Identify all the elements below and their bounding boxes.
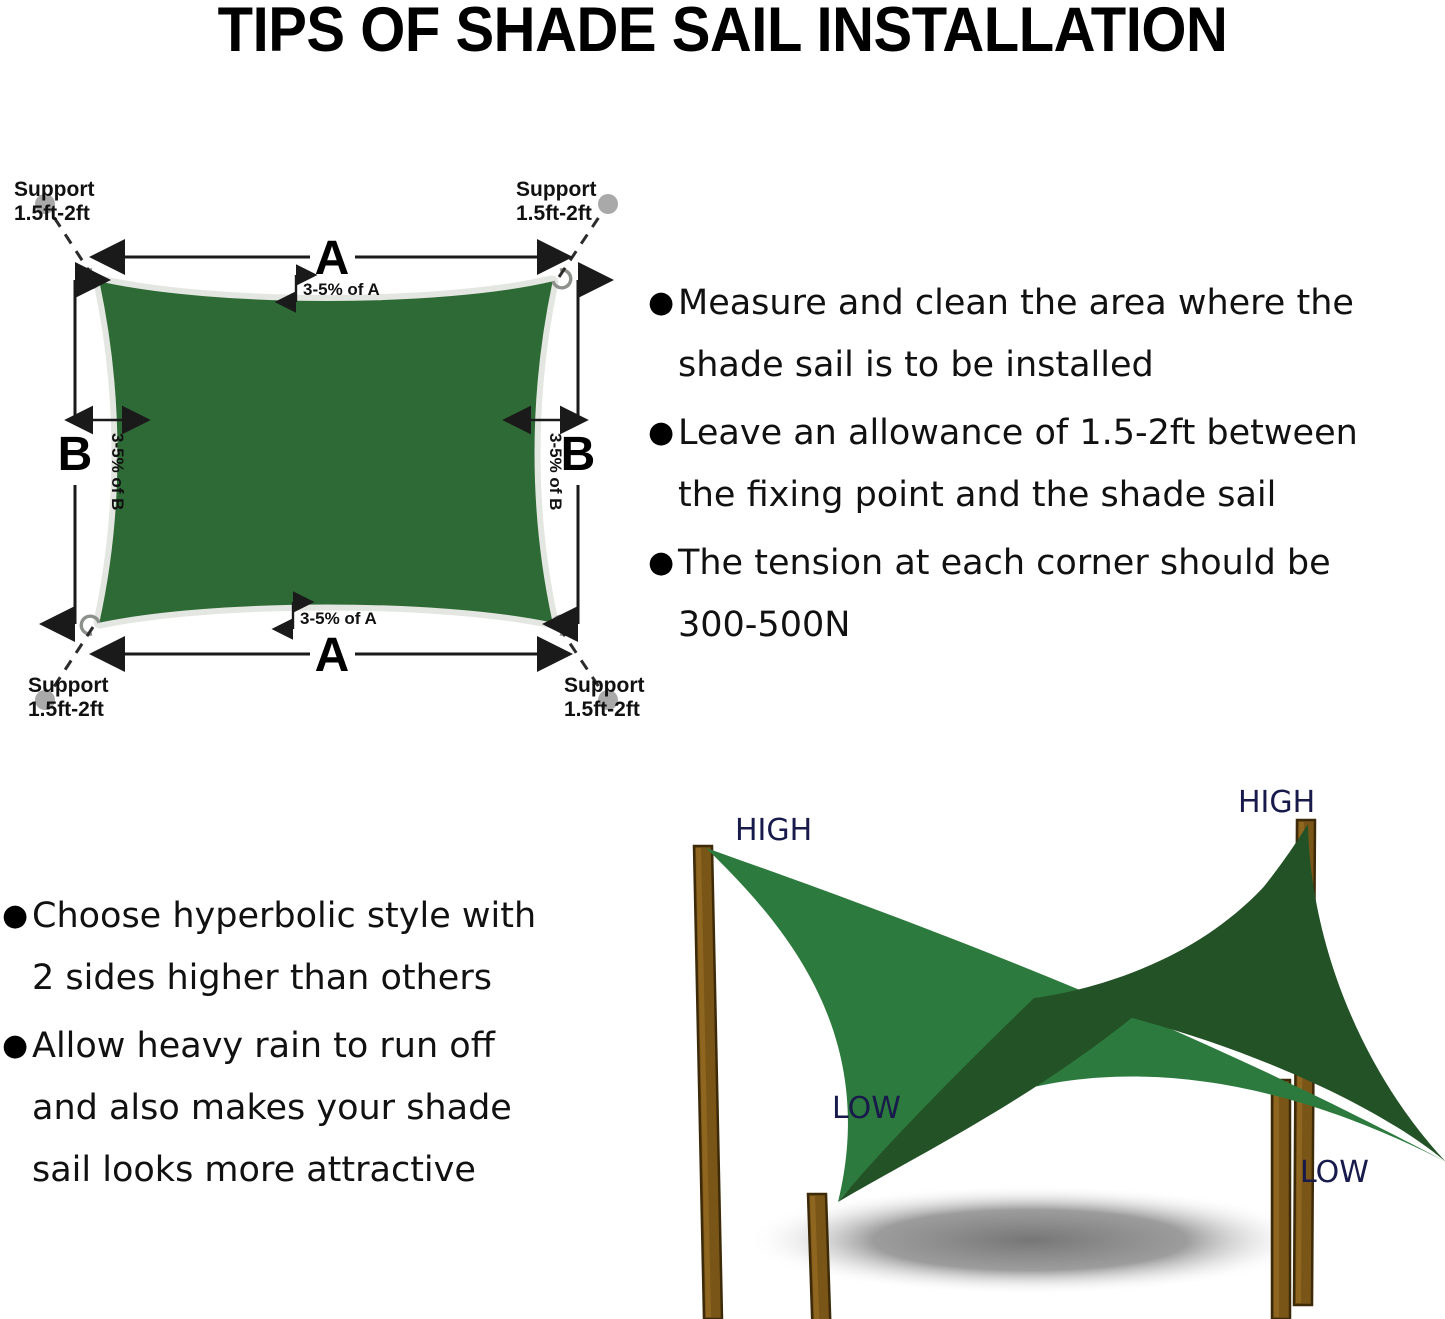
bullet-icon: ●	[2, 885, 32, 947]
support-label-line2: 1.5ft-2ft	[14, 202, 90, 225]
tip-line: Choose hyperbolic style with	[32, 885, 622, 947]
dimension-bottom-a: A	[125, 629, 537, 682]
tip-text: Measure and clean the area where the sha…	[678, 272, 1445, 396]
curvature-label-right: 3-5% of B	[546, 433, 565, 510]
support-label-line1: Support	[516, 178, 596, 201]
label-low-right: LOW	[1300, 1155, 1369, 1190]
tip-text: Allow heavy rain to run off and also mak…	[32, 1015, 622, 1201]
post-high-left	[694, 846, 722, 1319]
support-label-line1: Support	[564, 674, 644, 697]
tip-line: shade sail is to be installed	[678, 334, 1445, 396]
tips-list-right: ● Measure and clean the area where the s…	[648, 272, 1445, 662]
tip-line: Allow heavy rain to run off	[32, 1015, 622, 1077]
tip-text: Leave an allowance of 1.5-2ft between th…	[678, 402, 1445, 526]
tip-line: The tension at each corner should be	[678, 532, 1445, 594]
label-high-left: HIGH	[735, 813, 812, 848]
support-label-bottom-left: Support 1.5ft-2ft	[28, 674, 108, 721]
sail-fabric	[100, 282, 552, 622]
ground-shadow	[745, 1185, 1315, 1295]
tip-line: sail looks more attractive	[32, 1139, 622, 1201]
dimension-label-a-top: A	[315, 232, 350, 285]
tips-list-left: ● Choose hyperbolic style with 2 sides h…	[2, 885, 622, 1207]
bullet-icon: ●	[2, 1015, 32, 1077]
support-label-bottom-right: Support 1.5ft-2ft	[564, 674, 644, 721]
list-item: ● Leave an allowance of 1.5-2ft between …	[648, 402, 1445, 526]
curvature-label-left: 3-5% of B	[108, 433, 127, 510]
support-dot-icon	[598, 194, 618, 214]
support-label-line1: Support	[14, 178, 94, 201]
page-title: TIPS OF SHADE SAIL INSTALLATION	[58, 0, 1387, 66]
bullet-icon: ●	[648, 402, 678, 464]
tip-line: Measure and clean the area where the	[678, 272, 1445, 334]
tip-line: Leave an allowance of 1.5-2ft between	[678, 402, 1445, 464]
post-low-right	[1272, 1080, 1290, 1319]
bullet-icon: ●	[648, 532, 678, 594]
curvature-top: 3-5% of A	[296, 275, 380, 302]
support-label-line2: 1.5ft-2ft	[516, 202, 592, 225]
list-item: ● Choose hyperbolic style with 2 sides h…	[2, 885, 622, 1009]
tip-line: the fixing point and the shade sail	[678, 464, 1445, 526]
curvature-label-bottom: 3-5% of A	[300, 609, 377, 628]
label-low-left: LOW	[832, 1091, 901, 1126]
tip-text: Choose hyperbolic style with 2 sides hig…	[32, 885, 622, 1009]
hyperbolic-sail-diagram: HIGH HIGH LOW LOW	[660, 770, 1445, 1319]
support-label-line2: 1.5ft-2ft	[28, 698, 104, 721]
dimension-label-a-bottom: A	[315, 629, 350, 682]
support-label-line1: Support	[28, 674, 108, 697]
dimension-left-b: B	[58, 280, 93, 624]
list-item: ● Measure and clean the area where the s…	[648, 272, 1445, 396]
support-label-top-left: Support 1.5ft-2ft	[14, 178, 94, 225]
dimension-top-a: A	[125, 232, 537, 285]
support-label-top-right: Support 1.5ft-2ft	[516, 178, 596, 225]
tip-line: 2 sides higher than others	[32, 947, 622, 1009]
curvature-left: 3-5% of B	[93, 420, 127, 510]
tip-line: 300-500N	[678, 594, 1445, 656]
tip-text: The tension at each corner should be 300…	[678, 532, 1445, 656]
dimension-label-b-left: B	[58, 428, 93, 481]
rectangular-sail-diagram: Support 1.5ft-2ft Support 1.5ft-2ft Supp…	[0, 150, 660, 730]
tip-line: and also makes your shade	[32, 1077, 622, 1139]
curvature-label-top: 3-5% of A	[303, 280, 380, 299]
label-high-right: HIGH	[1238, 785, 1315, 820]
list-item: ● Allow heavy rain to run off and also m…	[2, 1015, 622, 1201]
bullet-icon: ●	[648, 272, 678, 334]
list-item: ● The tension at each corner should be 3…	[648, 532, 1445, 656]
support-label-line2: 1.5ft-2ft	[564, 698, 640, 721]
